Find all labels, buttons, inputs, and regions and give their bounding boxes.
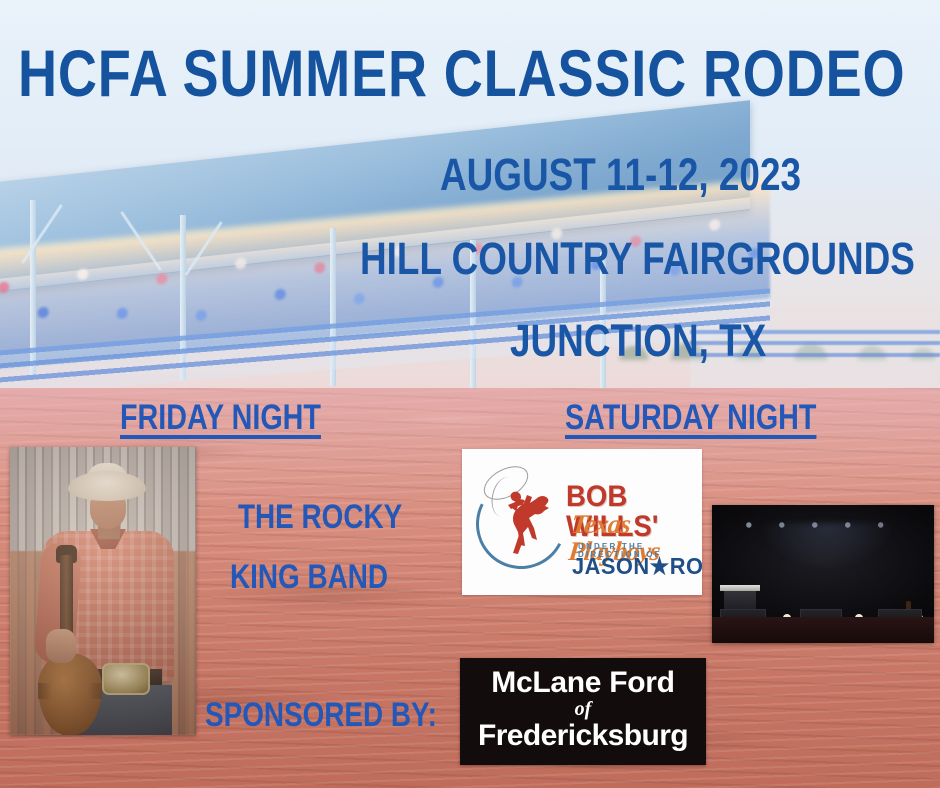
saturday-night-heading: SATURDAY NIGHT bbox=[565, 400, 816, 435]
friday-night-heading: FRIDAY NIGHT bbox=[120, 400, 321, 435]
sponsor-name-line1: McLane Ford bbox=[460, 668, 706, 698]
stage-light-beam bbox=[752, 523, 902, 593]
event-date: AUGUST 11-12, 2023 bbox=[440, 152, 801, 197]
page-title: HCFA SUMMER CLASSIC RODEO bbox=[18, 40, 905, 106]
event-city: JUNCTION, TX bbox=[510, 318, 766, 363]
rodeo-event-poster: HCFA SUMMER CLASSIC RODEO AUGUST 11-12, … bbox=[0, 0, 940, 788]
saturday-act-photo bbox=[712, 505, 934, 643]
event-venue: HILL COUNTRY FAIRGROUNDS bbox=[360, 236, 915, 281]
friday-act-line2: KING BAND bbox=[230, 560, 388, 594]
sponsor-name-line2: Fredericksburg bbox=[460, 720, 706, 752]
friday-act-line1: THE ROCKY bbox=[238, 500, 402, 534]
logo-leader-name: JASON★ROBERTS bbox=[572, 555, 702, 578]
bob-wills-texas-playboys-logo: BOB WILLS' Texas Playboys UNDER THE DIRE… bbox=[462, 449, 702, 595]
friday-act-photo bbox=[10, 447, 196, 735]
stage-floor bbox=[712, 617, 934, 643]
photo-vignette bbox=[10, 447, 196, 735]
sponsor-logo-mclane-ford: McLane Ford of Fredericksburg bbox=[460, 658, 706, 765]
sponsor-name-of: of bbox=[460, 698, 706, 720]
stage-light-row bbox=[720, 521, 926, 529]
rearing-horse-rider-icon bbox=[492, 485, 564, 565]
sponsored-by-label: SPONSORED BY: bbox=[205, 698, 437, 732]
